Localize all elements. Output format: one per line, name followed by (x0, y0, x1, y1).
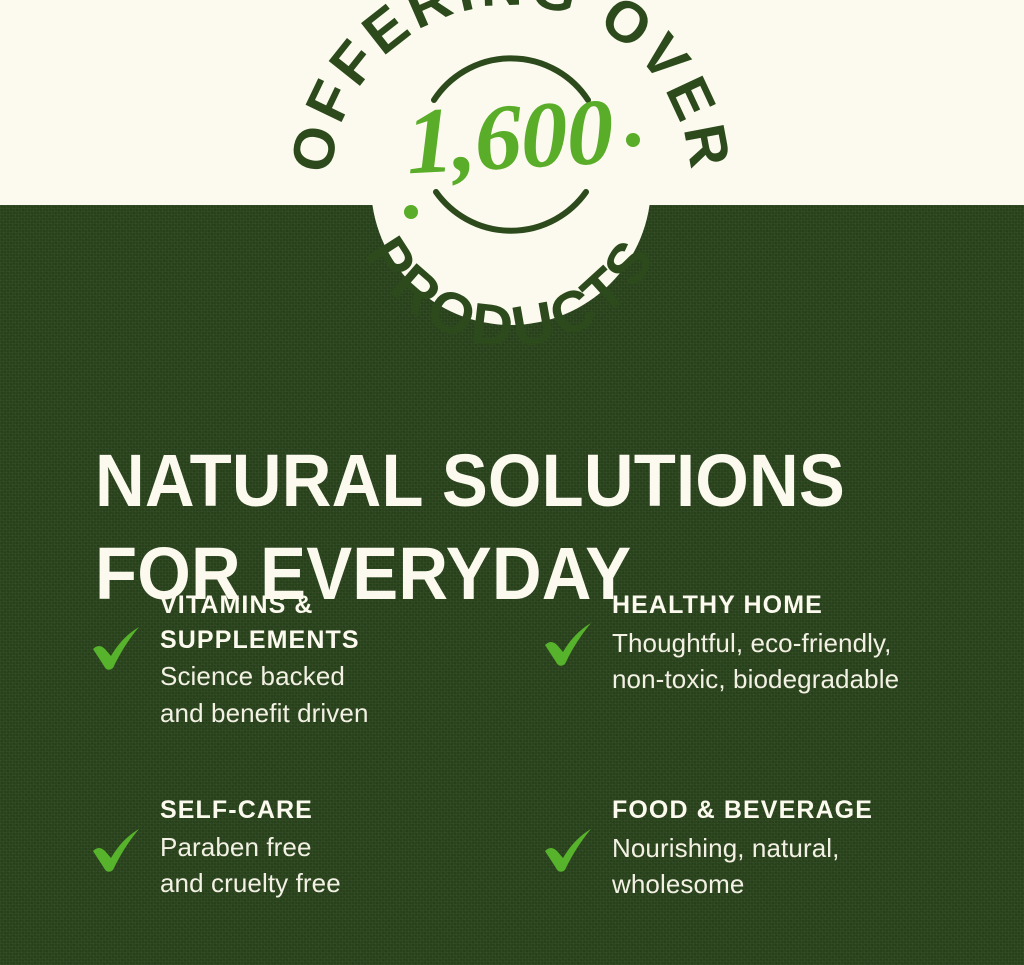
badge-dot-right (626, 133, 640, 147)
badge-dot-left (404, 205, 418, 219)
feature-description: Paraben free and cruelty free (160, 829, 540, 903)
feature-item-healthy-home: HEALTHY HOME Thoughtful, eco-friendly, n… (540, 588, 988, 793)
feature-item-vitamins-supplements: VITAMINS & SUPPLEMENTS Science backed an… (88, 588, 540, 793)
check-icon (90, 624, 146, 672)
check-icon (542, 826, 598, 874)
promo-graphic: OFFERING OVER PRODUCTS 1,600 NATURAL SOL… (0, 0, 1024, 965)
feature-description: Science backed and benefit driven (160, 658, 540, 732)
feature-description: Thoughtful, eco-friendly, non-toxic, bio… (612, 625, 988, 699)
badge-product-count: 1,600 (404, 80, 616, 195)
check-icon (542, 620, 598, 668)
feature-item-food-beverage: FOOD & BEVERAGE Nourishing, natural, who… (540, 793, 988, 903)
feature-item-self-care: SELF-CARE Paraben free and cruelty free (88, 793, 540, 903)
feature-list: VITAMINS & SUPPLEMENTS Science backed an… (88, 588, 988, 903)
offering-over-badge: OFFERING OVER PRODUCTS 1,600 (0, 0, 1024, 400)
feature-title: VITAMINS & SUPPLEMENTS (160, 588, 540, 657)
feature-title: FOOD & BEVERAGE (612, 793, 988, 828)
feature-title: HEALTHY HOME (612, 588, 988, 623)
feature-description: Nourishing, natural, wholesome (612, 830, 988, 904)
feature-title: SELF-CARE (160, 793, 540, 828)
check-icon (90, 826, 146, 874)
